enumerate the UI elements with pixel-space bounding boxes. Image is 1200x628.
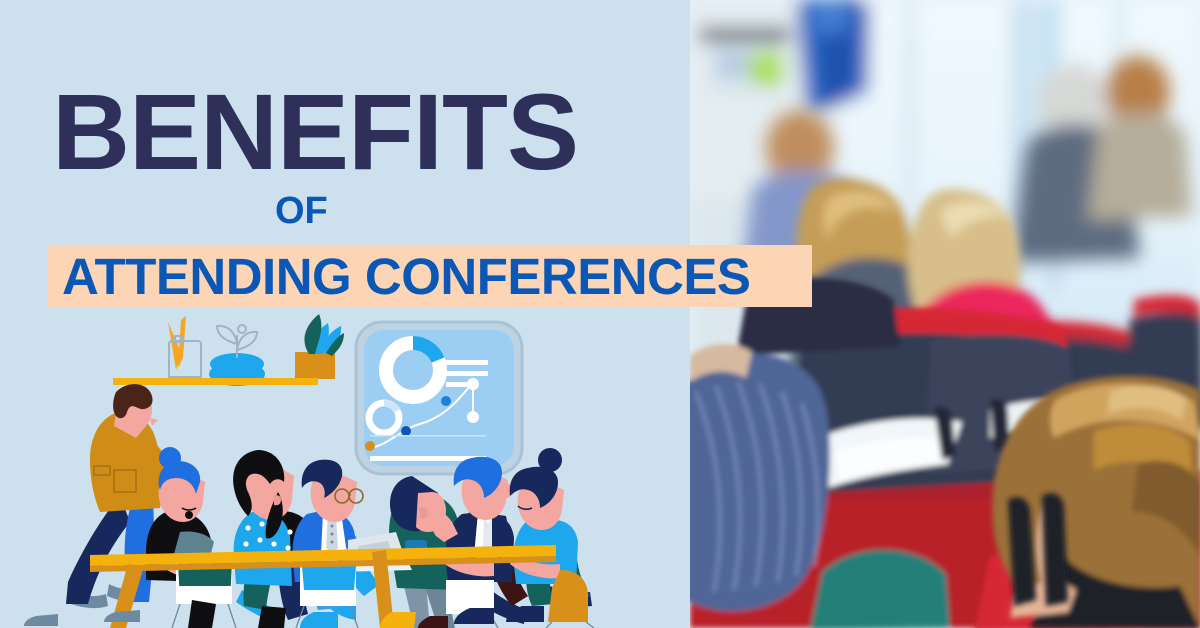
conference-audience-photo xyxy=(690,0,1200,628)
page-title: BENEFITS xyxy=(52,78,578,186)
title-connector: OF xyxy=(275,192,328,230)
page-subtitle: ATTENDING CONFERENCES xyxy=(62,249,750,305)
data-presentation-screen xyxy=(356,322,522,474)
benefits-of-attending-conferences-banner: BENEFITS OF ATTENDING CONFERENCES xyxy=(0,0,1200,628)
conference-meeting-illustration xyxy=(0,300,690,628)
